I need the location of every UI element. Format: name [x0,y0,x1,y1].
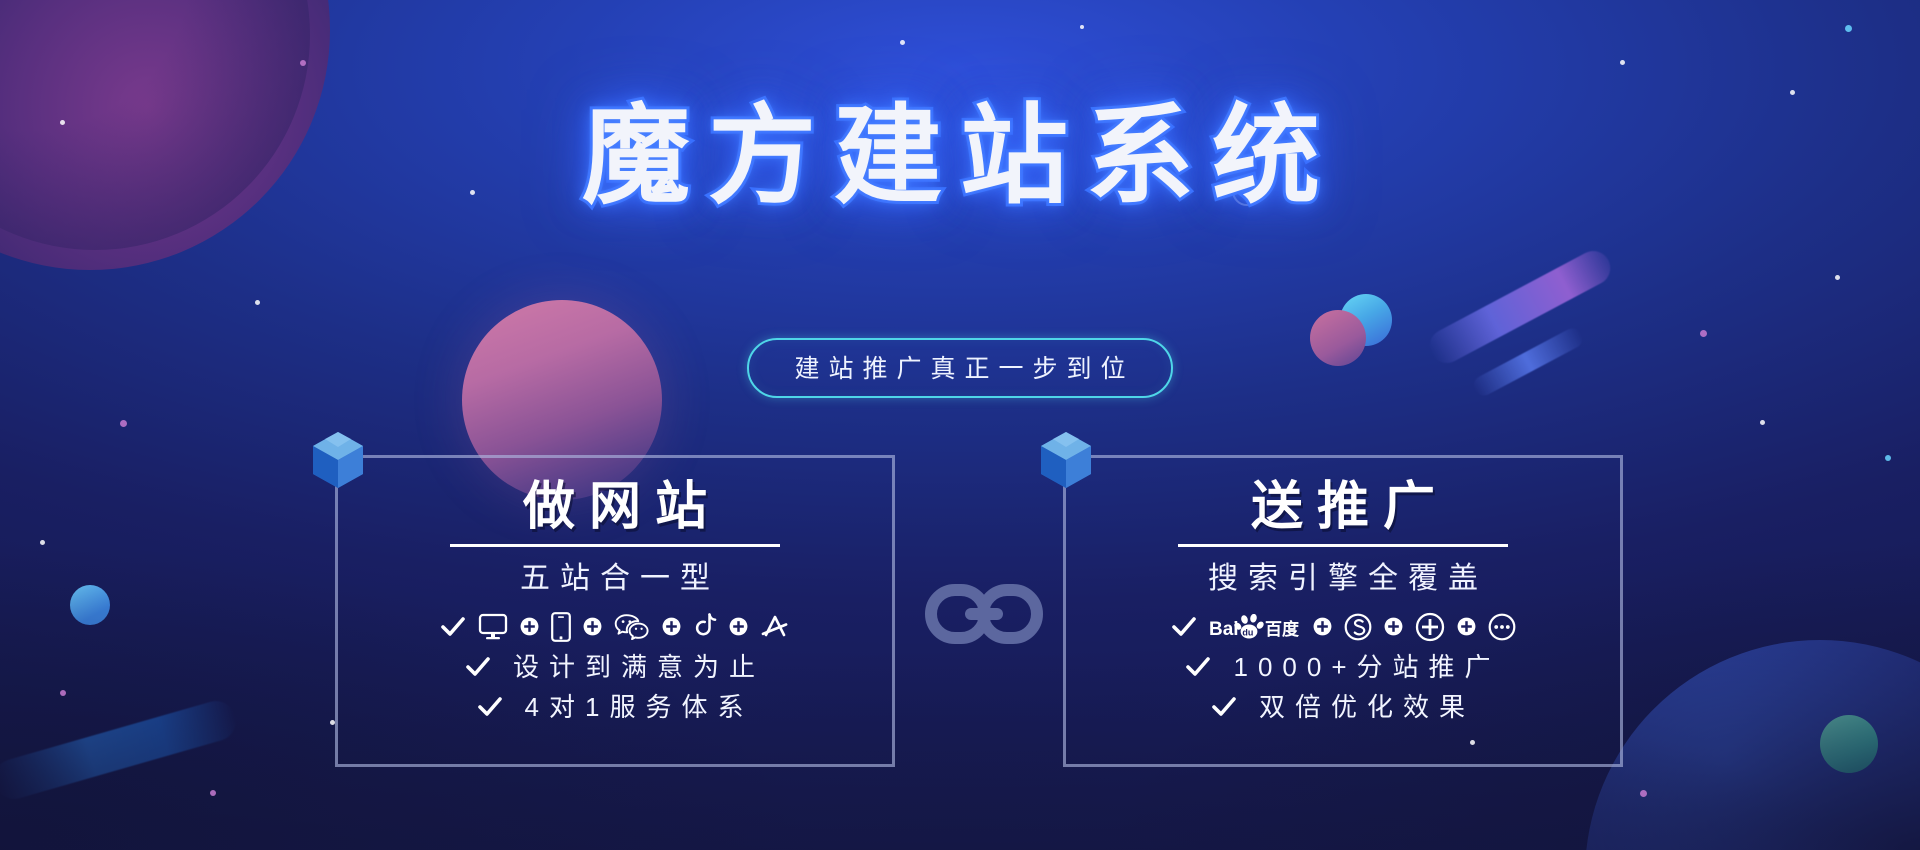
feature-label: 4对1服务体系 [515,694,754,720]
decorative-dot [1700,330,1707,337]
svg-text:百度: 百度 [1265,619,1300,639]
decorative-dot [1080,25,1084,29]
decorative-dot [210,790,216,796]
more-icon [1488,613,1516,641]
plus-icon [729,617,748,636]
check-icon [1211,694,1237,720]
decorative-dot [1845,25,1852,32]
engine-icon-row-right: Bai du 百度 [1171,607,1516,647]
platform-icon-row-left [440,607,790,647]
feature-row-right-2: 双倍优化效果 [1211,687,1475,727]
card-subheading-right: 搜索引擎全覆盖 [1198,553,1488,597]
feature-label: 设计到满意为止 [503,654,765,680]
decorative-dot [1640,790,1647,797]
check-icon [1171,614,1197,640]
svg-text:du: du [1242,627,1253,637]
app-icon [760,613,790,641]
check-icon [465,654,491,680]
feature-row-left-1: 设计到满意为止 [465,647,765,687]
decorative-dot [1835,275,1840,280]
baidu-logo: Bai du 百度 [1209,614,1301,640]
feature-row-left-2: 4对1服务体系 [477,687,754,727]
decorative-dot [1885,455,1891,461]
check-icon [440,614,466,640]
card-heading-left: 做网站 [509,480,721,535]
card-subheading-left: 五站合一型 [510,553,720,597]
card-content-left: 做网站 五站合一型 [338,458,892,764]
decorative-dot [60,690,66,696]
subtitle-block: 建站推广真正一步到位 [0,338,1920,398]
feature-row-right-1: 1000+分站推广 [1185,647,1500,687]
check-icon [1185,654,1211,680]
plus-icon [1457,617,1476,636]
feature-label: 1000+分站推广 [1223,654,1500,680]
promo-banner: 魔方建站系统 建站推广真正一步到位 做网站 五站合一型 [0,0,1920,850]
svg-text:Bai: Bai [1209,619,1239,640]
decorative-dot [40,540,45,545]
decorative-dot [1760,420,1765,425]
subtitle-capsule: 建站推广真正一步到位 [747,338,1172,398]
plus-icon [1313,617,1332,636]
page-title: 魔方建站系统 [582,95,1338,219]
card-divider-left [450,544,780,547]
decorative-dot [300,60,306,66]
check-icon [477,694,503,720]
wechat-icon [614,613,650,641]
sogou-icon [1344,613,1372,641]
decorative-dot [1620,60,1625,65]
card-build-website[interactable]: 做网站 五站合一型 [335,455,895,767]
card-free-promotion[interactable]: 送推广 搜索引擎全覆盖 Bai du 百度 [1063,455,1623,767]
card-content-right: 送推广 搜索引擎全覆盖 Bai du 百度 [1066,458,1620,764]
plus-icon [662,617,681,636]
decorative-dot [120,420,127,427]
card-divider-right [1178,544,1508,547]
decorative-dot [255,300,260,305]
feature-label: 双倍优化效果 [1249,694,1475,720]
card-heading-right: 送推广 [1237,480,1449,535]
plus-icon [583,617,602,636]
360-icon [1415,612,1445,642]
plus-icon [520,617,539,636]
title-block: 魔方建站系统 [0,95,1920,219]
plus-icon [1384,617,1403,636]
decorative-dot [900,40,905,45]
mobile-icon [551,612,571,642]
monitor-icon [478,613,508,641]
douyin-icon [693,612,717,642]
link-icon [925,572,1043,656]
